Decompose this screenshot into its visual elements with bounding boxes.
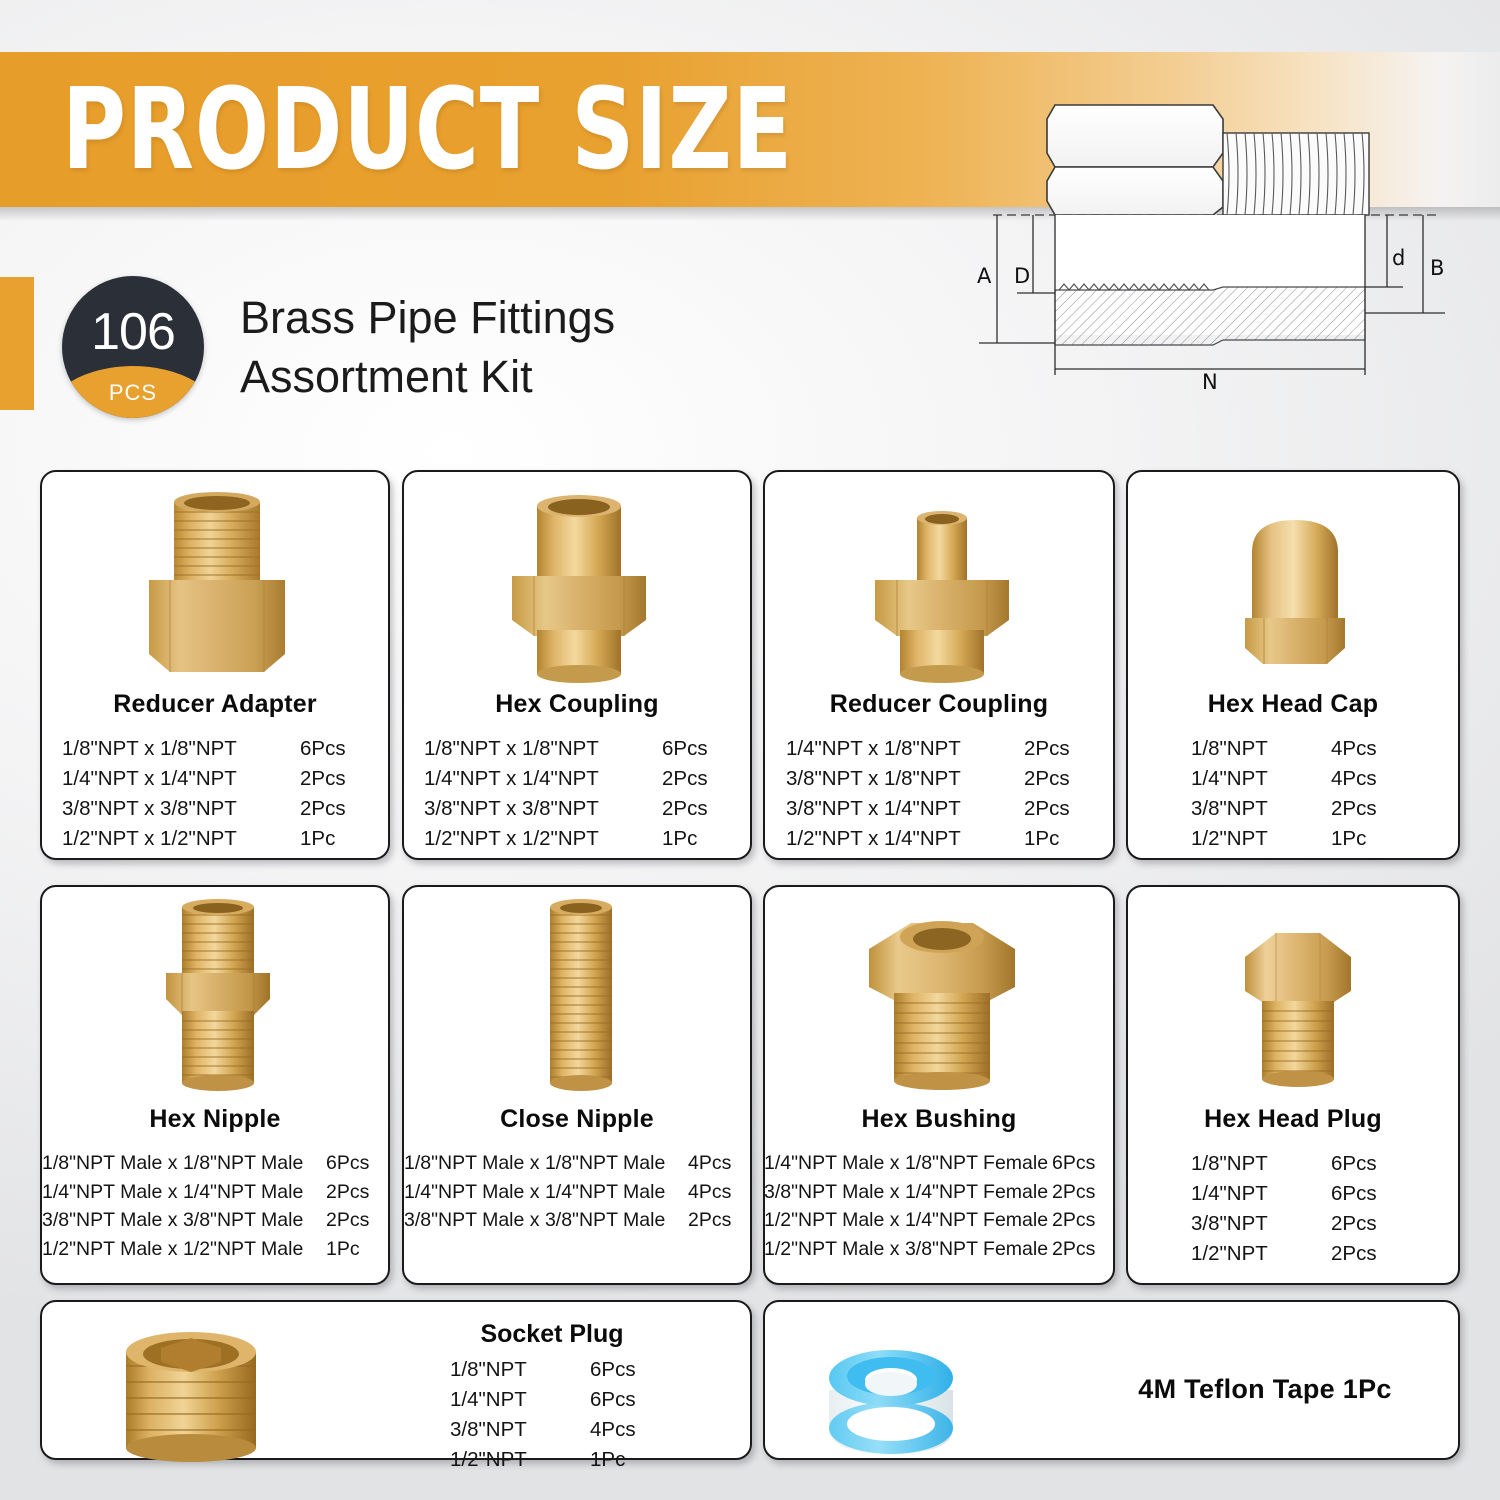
spec-row: 1/8"NPT 4Pcs: [1191, 734, 1395, 764]
spec-desc: 1/2"NPT x 1/2"NPT: [424, 824, 636, 854]
diagram-label-d-lower: d: [1392, 246, 1405, 270]
diagram-hex-upper: [1047, 105, 1223, 167]
spec-row: 1/8"NPT x 1/8"NPT 6Pcs: [62, 734, 368, 764]
spec-row: 3/8"NPT Male x 3/8"NPT Male 2Pcs: [404, 1206, 750, 1235]
spec-row: 1/4"NPT x 1/8"NPT 2Pcs: [786, 734, 1092, 764]
spec-row: 1/2"NPT 1Pc: [372, 1445, 732, 1475]
spec-desc: 1/2"NPT Male x 1/4"NPT Female: [764, 1206, 1042, 1235]
socket-plug-body: Socket Plug 1/8"NPT 6Pcs 1/4"NPT 6Pcs 3/…: [372, 1320, 732, 1475]
spec-qty: 1Pc: [1024, 824, 1092, 854]
teflon-tape-icon: [801, 1318, 1071, 1473]
spec-desc: 1/4"NPT: [450, 1385, 568, 1415]
spec-qty: 6Pcs: [1331, 1149, 1395, 1179]
spec-qty: 4Pcs: [1331, 734, 1395, 764]
spec-table: 1/8"NPT Male x 1/8"NPT Male 4Pcs 1/4"NPT…: [404, 1149, 750, 1235]
banner-title: PRODUCT SIZE: [62, 74, 793, 186]
card-title: Hex Head Plug: [1128, 1105, 1458, 1134]
spec-table: 1/8"NPT 4Pcs 1/4"NPT 4Pcs 3/8"NPT 2Pcs 1…: [1128, 734, 1458, 855]
spec-table: 1/4"NPT x 1/8"NPT 2Pcs 3/8"NPT x 1/8"NPT…: [765, 734, 1113, 855]
spec-row: 3/8"NPT Male x 3/8"NPT Male 2Pcs: [42, 1206, 388, 1235]
spec-desc: 1/4"NPT: [1191, 1179, 1309, 1209]
spec-desc: 1/8"NPT x 1/8"NPT: [424, 734, 636, 764]
spec-row: 1/2"NPT x 1/2"NPT 1Pc: [62, 824, 368, 854]
product-card-reducer-adapter[interactable]: Reducer Adapter 1/8"NPT x 1/8"NPT 6Pcs 1…: [40, 470, 390, 860]
product-card-hex-nipple[interactable]: Hex Nipple 1/8"NPT Male x 1/8"NPT Male 6…: [40, 885, 390, 1285]
spec-qty: 4Pcs: [688, 1149, 750, 1178]
card-title: Hex Coupling: [404, 690, 750, 719]
spec-qty: 6Pcs: [590, 1355, 654, 1385]
spec-row: 3/8"NPT Male x 1/4"NPT Female 2Pcs: [764, 1178, 1114, 1207]
spec-desc: 1/2"NPT Male x 3/8"NPT Female: [764, 1235, 1042, 1264]
spec-qty: 2Pcs: [662, 794, 730, 824]
spec-qty: 6Pcs: [662, 734, 730, 764]
spec-desc: 3/8"NPT: [1191, 1209, 1309, 1239]
socket-plug-icon: [78, 1318, 348, 1473]
card-title: Reducer Adapter: [42, 690, 388, 719]
spec-desc: 3/8"NPT Male x 3/8"NPT Male: [404, 1206, 676, 1235]
spec-qty: 6Pcs: [1331, 1179, 1395, 1209]
badge-unit: PCS: [62, 380, 204, 406]
spec-desc: 1/2"NPT x 1/4"NPT: [786, 824, 998, 854]
spec-qty: 2Pcs: [688, 1206, 750, 1235]
spec-desc: 1/4"NPT Male x 1/4"NPT Male: [42, 1178, 314, 1207]
spec-desc: 3/8"NPT x 3/8"NPT: [62, 794, 274, 824]
card-title: Hex Bushing: [765, 1105, 1113, 1134]
spec-desc: 1/8"NPT Male x 1/8"NPT Male: [404, 1149, 676, 1178]
spec-row: 1/4"NPT x 1/4"NPT 2Pcs: [62, 764, 368, 794]
spec-qty: 2Pcs: [326, 1206, 388, 1235]
diagram-label-a: A: [977, 264, 992, 288]
reducer-adapter-icon: [42, 478, 388, 686]
spec-qty: 4Pcs: [688, 1178, 750, 1207]
card-title: Reducer Coupling: [765, 690, 1113, 719]
spec-desc: 1/8"NPT Male x 1/8"NPT Male: [42, 1149, 314, 1178]
spec-row: 1/8"NPT x 1/8"NPT 6Pcs: [424, 734, 730, 764]
spec-desc: 1/4"NPT x 1/4"NPT: [424, 764, 636, 794]
spec-table: 1/8"NPT 6Pcs 1/4"NPT 6Pcs 3/8"NPT 2Pcs 1…: [1128, 1149, 1458, 1270]
spec-table: 1/4"NPT Male x 1/8"NPT Female 6Pcs 3/8"N…: [765, 1149, 1113, 1264]
spec-row: 3/8"NPT 4Pcs: [372, 1415, 732, 1445]
spec-qty: 6Pcs: [300, 734, 368, 764]
spec-qty: 4Pcs: [1331, 764, 1395, 794]
card-title: Close Nipple: [404, 1105, 750, 1134]
spec-desc: 3/8"NPT: [450, 1415, 568, 1445]
spec-row: 1/4"NPT Male x 1/4"NPT Male 2Pcs: [42, 1178, 388, 1207]
spec-row: 1/4"NPT x 1/4"NPT 2Pcs: [424, 764, 730, 794]
spec-qty: 2Pcs: [1331, 1209, 1395, 1239]
spec-qty: 1Pc: [662, 824, 730, 854]
spec-desc: 1/4"NPT x 1/8"NPT: [786, 734, 998, 764]
spec-qty: 1Pc: [1331, 824, 1395, 854]
spec-qty: 2Pcs: [1052, 1235, 1114, 1264]
spec-qty: 6Pcs: [326, 1149, 388, 1178]
spec-desc: 1/4"NPT: [1191, 764, 1309, 794]
spec-qty: 6Pcs: [1052, 1149, 1114, 1178]
product-card-hex-head-plug[interactable]: Hex Head Plug 1/8"NPT 6Pcs 1/4"NPT 6Pcs …: [1126, 885, 1460, 1285]
diagram-hex-lower: [1047, 167, 1223, 215]
spec-row: 1/8"NPT 6Pcs: [372, 1355, 732, 1385]
spec-desc: 3/8"NPT x 3/8"NPT: [424, 794, 636, 824]
spec-qty: 6Pcs: [590, 1385, 654, 1415]
spec-table: 1/8"NPT x 1/8"NPT 6Pcs 1/4"NPT x 1/4"NPT…: [42, 734, 388, 855]
spec-row: 1/4"NPT Male x 1/4"NPT Male 4Pcs: [404, 1178, 750, 1207]
spec-qty: 2Pcs: [1024, 794, 1092, 824]
spec-row: 1/2"NPT x 1/4"NPT 1Pc: [786, 824, 1092, 854]
left-accent-tab: [0, 277, 34, 410]
spec-desc: 1/2"NPT: [1191, 824, 1309, 854]
spec-qty: 1Pc: [590, 1445, 654, 1475]
spec-qty: 2Pcs: [1024, 734, 1092, 764]
spec-row: 1/4"NPT 6Pcs: [1191, 1179, 1395, 1209]
spec-row: 3/8"NPT x 1/4"NPT 2Pcs: [786, 794, 1092, 824]
spec-qty: 2Pcs: [662, 764, 730, 794]
card-title: Hex Head Cap: [1128, 690, 1458, 719]
spec-desc: 3/8"NPT: [1191, 794, 1309, 824]
spec-qty: 1Pc: [326, 1235, 388, 1264]
spec-row: 1/8"NPT Male x 1/8"NPT Male 6Pcs: [42, 1149, 388, 1178]
spec-row: 1/4"NPT 6Pcs: [372, 1385, 732, 1415]
reducer-coupling-icon: [765, 478, 1113, 686]
diagram-hatched-section: [1055, 287, 1365, 345]
spec-desc: 3/8"NPT x 1/4"NPT: [786, 794, 998, 824]
diagram-label-b: B: [1430, 256, 1444, 280]
spec-qty: 2Pcs: [300, 794, 368, 824]
kit-title-line2: Assortment Kit: [240, 347, 940, 406]
card-title: Socket Plug: [372, 1320, 732, 1349]
teflon-tape-label: 4M Teflon Tape 1Pc: [1065, 1374, 1465, 1405]
product-card-hex-coupling[interactable]: Hex Coupling 1/8"NPT x 1/8"NPT 6Pcs 1/4"…: [402, 470, 752, 860]
product-card-reducer-coupling[interactable]: Reducer Coupling 1/4"NPT x 1/8"NPT 2Pcs …: [763, 470, 1115, 860]
spec-desc: 1/2"NPT: [1191, 1239, 1309, 1269]
spec-desc: 3/8"NPT Male x 3/8"NPT Male: [42, 1206, 314, 1235]
hex-nipple-icon: [42, 893, 388, 1101]
spec-qty: 2Pcs: [300, 764, 368, 794]
spec-row: 1/2"NPT 1Pc: [1191, 824, 1395, 854]
diagram-threads: [1223, 133, 1369, 215]
spec-row: 1/8"NPT 6Pcs: [1191, 1149, 1395, 1179]
close-nipple-icon: [404, 893, 750, 1101]
spec-desc: 1/8"NPT: [1191, 1149, 1309, 1179]
product-card-close-nipple[interactable]: Close Nipple 1/8"NPT Male x 1/8"NPT Male…: [402, 885, 752, 1285]
spec-desc: 1/8"NPT: [1191, 734, 1309, 764]
card-title: Hex Nipple: [42, 1105, 388, 1134]
spec-qty: 2Pcs: [1331, 794, 1395, 824]
spec-table: 1/8"NPT x 1/8"NPT 6Pcs 1/4"NPT x 1/4"NPT…: [404, 734, 750, 855]
spec-row: 1/2"NPT x 1/2"NPT 1Pc: [424, 824, 730, 854]
product-size-infographic: PRODUCT SIZE 106 PCS Brass Pipe Fittings…: [0, 0, 1500, 1500]
spec-row: 3/8"NPT x 3/8"NPT 2Pcs: [424, 794, 730, 824]
spec-qty: 2Pcs: [1331, 1239, 1395, 1269]
spec-row: 1/4"NPT 4Pcs: [1191, 764, 1395, 794]
product-card-socket-plug[interactable]: Socket Plug 1/8"NPT 6Pcs 1/4"NPT 6Pcs 3/…: [40, 1300, 752, 1460]
spec-row: 1/2"NPT Male x 1/2"NPT Male 1Pc: [42, 1235, 388, 1264]
spec-row: 3/8"NPT 2Pcs: [1191, 794, 1395, 824]
spec-row: 3/8"NPT x 3/8"NPT 2Pcs: [62, 794, 368, 824]
spec-qty: 2Pcs: [1052, 1178, 1114, 1207]
product-card-teflon-tape[interactable]: 4M Teflon Tape 1Pc: [763, 1300, 1460, 1460]
spec-desc: 3/8"NPT x 1/8"NPT: [786, 764, 998, 794]
hex-head-plug-icon: [1128, 893, 1458, 1101]
product-card-hex-head-cap[interactable]: Hex Head Cap 1/8"NPT 4Pcs 1/4"NPT 4Pcs 3…: [1126, 470, 1460, 860]
spec-qty: 2Pcs: [1052, 1206, 1114, 1235]
spec-qty: 4Pcs: [590, 1415, 654, 1445]
spec-desc: 1/4"NPT Male x 1/4"NPT Male: [404, 1178, 676, 1207]
kit-title-line1: Brass Pipe Fittings: [240, 288, 940, 347]
spec-desc: 1/2"NPT Male x 1/2"NPT Male: [42, 1235, 314, 1264]
spec-table: 1/8"NPT Male x 1/8"NPT Male 6Pcs 1/4"NPT…: [42, 1149, 388, 1264]
spec-desc: 1/4"NPT Male x 1/8"NPT Female: [764, 1149, 1042, 1178]
spec-row: 1/2"NPT Male x 3/8"NPT Female 2Pcs: [764, 1235, 1114, 1264]
product-card-hex-bushing[interactable]: Hex Bushing 1/4"NPT Male x 1/8"NPT Femal…: [763, 885, 1115, 1285]
hex-head-cap-icon: [1128, 478, 1458, 686]
spec-desc: 1/8"NPT x 1/8"NPT: [62, 734, 274, 764]
spec-row: 1/8"NPT Male x 1/8"NPT Male 4Pcs: [404, 1149, 750, 1178]
spec-row: 1/2"NPT 2Pcs: [1191, 1239, 1395, 1269]
spec-desc: 1/2"NPT x 1/2"NPT: [62, 824, 274, 854]
spec-desc: 1/8"NPT: [450, 1355, 568, 1385]
spec-desc: 1/4"NPT x 1/4"NPT: [62, 764, 274, 794]
diagram-label-n: N: [1202, 370, 1218, 394]
spec-qty: 2Pcs: [1024, 764, 1092, 794]
spec-row: 1/2"NPT Male x 1/4"NPT Female 2Pcs: [764, 1206, 1114, 1235]
hex-coupling-icon: [404, 478, 750, 686]
spec-row: 1/4"NPT Male x 1/8"NPT Female 6Pcs: [764, 1149, 1114, 1178]
spec-qty: 2Pcs: [326, 1178, 388, 1207]
spec-row: 3/8"NPT 2Pcs: [1191, 1209, 1395, 1239]
dimension-diagram: A D d B N: [955, 75, 1475, 405]
badge-count: 106: [62, 302, 204, 362]
spec-qty: 1Pc: [300, 824, 368, 854]
spec-desc: 3/8"NPT Male x 1/4"NPT Female: [764, 1178, 1042, 1207]
hex-bushing-icon: [765, 893, 1113, 1101]
diagram-label-d-upper: D: [1014, 264, 1030, 288]
spec-desc: 1/2"NPT: [450, 1445, 568, 1475]
spec-row: 3/8"NPT x 1/8"NPT 2Pcs: [786, 764, 1092, 794]
kit-title: Brass Pipe Fittings Assortment Kit: [240, 288, 940, 407]
piece-count-badge: 106 PCS: [62, 276, 204, 418]
